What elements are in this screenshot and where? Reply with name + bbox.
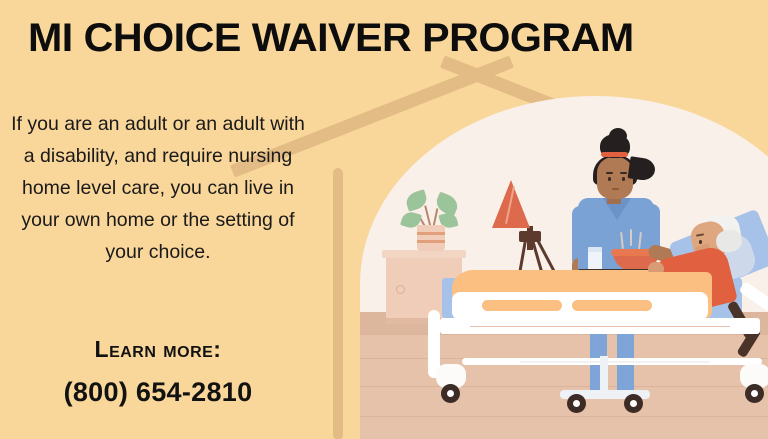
floor-plank: [360, 386, 768, 387]
nightstand-knob: [396, 285, 405, 294]
bed-wheel: [441, 384, 460, 403]
page-title: MI CHOICE WAIVER PROGRAM: [28, 16, 634, 61]
lamp-joint: [519, 231, 541, 242]
floor-plank: [360, 416, 768, 417]
blanket-accent: [482, 300, 562, 311]
nurse-eye: [622, 177, 625, 181]
nurse-hair-tie: [601, 152, 628, 157]
nurse-eye: [608, 177, 611, 181]
floor-plank: [360, 334, 768, 335]
bed-wheel: [745, 384, 764, 403]
plant-pot: [417, 225, 445, 251]
blanket-accent: [572, 300, 652, 311]
bed-rail-highlight: [520, 361, 710, 363]
phone-number[interactable]: (800) 654-2810: [8, 377, 308, 408]
bed-center-post: [600, 356, 608, 392]
lamp-shade: [492, 180, 568, 228]
cta-label: Learn more:: [8, 336, 308, 363]
steam-line: [630, 229, 632, 246]
body-description: If you are an adult or an adult with a d…: [8, 108, 308, 268]
nightstand-top-surface: [382, 250, 466, 258]
nurse-hair-bun-top: [609, 128, 627, 144]
bed-wheel: [567, 394, 586, 413]
house-wall-line: [333, 168, 343, 439]
milk-fill: [588, 252, 602, 270]
nurse-eyebrow: [620, 172, 627, 174]
nurse-mouth: [612, 188, 619, 190]
poster-canvas: MI CHOICE WAIVER PROGRAM If you are an a…: [0, 0, 768, 439]
nurse-eyebrow: [606, 172, 613, 174]
patient-eye: [699, 240, 702, 244]
bed-frame-line: [470, 326, 730, 327]
bed-wheel: [624, 394, 643, 413]
